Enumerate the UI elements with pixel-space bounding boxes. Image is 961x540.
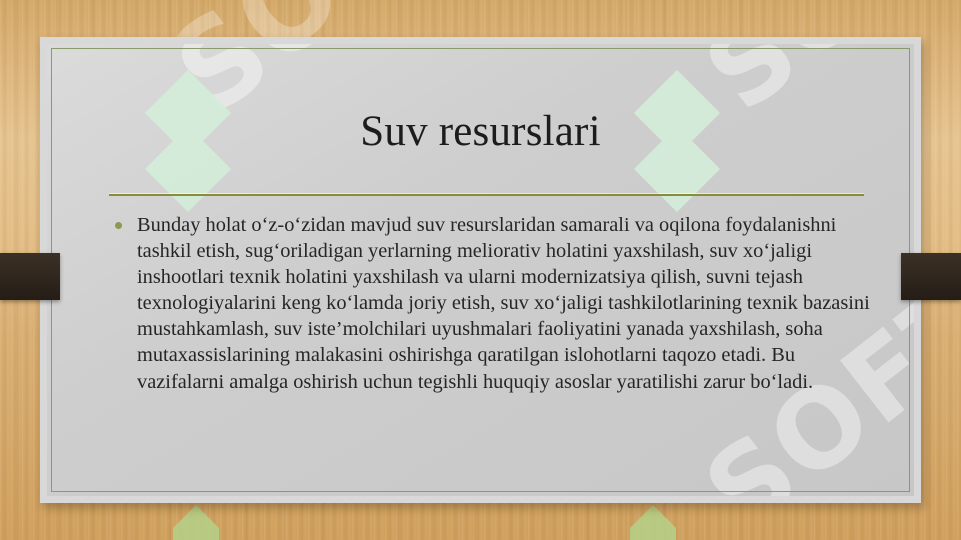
slide-canvas: SOFT SOFT SOFT Suv resurslari Bunday hol… xyxy=(47,44,914,496)
list-item-text: Bunday holat o‘z-o‘zidan mavjud suv resu… xyxy=(137,214,870,393)
slide-frame: SOFT SOFT SOFT Suv resurslari Bunday hol… xyxy=(40,37,921,503)
side-clip-right xyxy=(901,253,961,300)
title-divider xyxy=(109,194,864,196)
presentation-stage: SOFT SOFT SOFT SOFT SOFT Suv resurslari xyxy=(0,0,961,540)
decorative-chevron-left xyxy=(173,505,219,540)
slide-title: Suv resurslari xyxy=(47,108,914,155)
bullet-icon xyxy=(115,222,122,229)
decorative-chevron-right xyxy=(630,505,676,540)
side-clip-left xyxy=(0,253,60,300)
slide-body-list: Bunday holat o‘z-o‘zidan mavjud suv resu… xyxy=(109,212,872,395)
list-item: Bunday holat o‘z-o‘zidan mavjud suv resu… xyxy=(109,212,872,395)
